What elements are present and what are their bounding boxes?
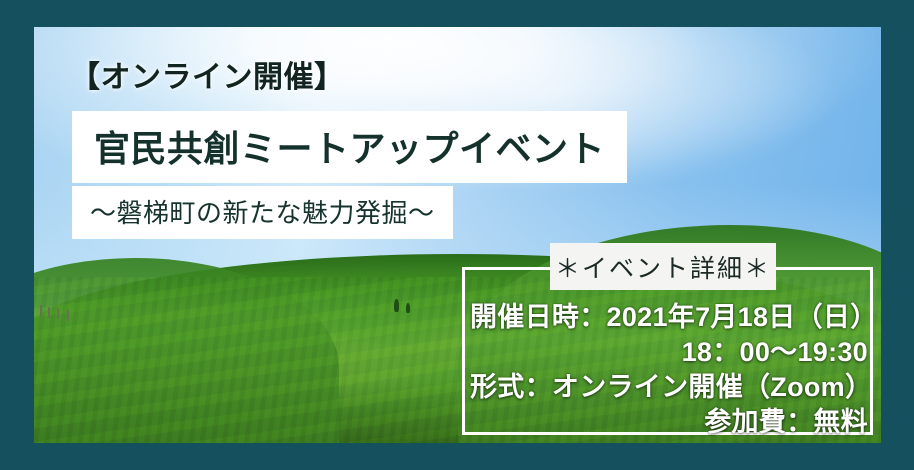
tagline-text: 【オンライン開催】 [70,52,345,96]
ridge-tree-icon [406,303,410,313]
poster-canvas: 【オンライン開催】 官民共創ミートアップイベント 〜磐梯町の新たな魅力発掘〜 ＊… [0,0,914,470]
event-detail-line: 18：00〜19:30 [470,335,868,370]
title-box: 官民共創ミートアップイベント [72,111,627,183]
event-detail-line: 開催日時：2021年7月18日（日） [470,300,868,335]
subtitle-text: 〜磐梯町の新たな魅力発掘〜 [90,198,435,228]
event-details-header-text: ＊イベント詳細＊ [555,249,771,285]
fence-post-icon [40,305,42,316]
event-details-header-box: ＊イベント詳細＊ [550,243,776,290]
fence-post-icon [67,310,69,321]
event-detail-line: 参加費：無料 [470,405,868,440]
title-text: 官民共創ミートアップイベント [94,128,605,169]
fence-post-icon [48,307,50,318]
subtitle-box: 〜磐梯町の新たな魅力発掘〜 [72,186,453,239]
fence-post-icon [57,308,59,319]
event-detail-line: 形式：オンライン開催（Zoom） [470,370,868,405]
ridge-tree-icon [394,299,399,312]
event-details-list: 開催日時：2021年7月18日（日） 18：00〜19:30 形式：オンライン開… [470,300,868,440]
